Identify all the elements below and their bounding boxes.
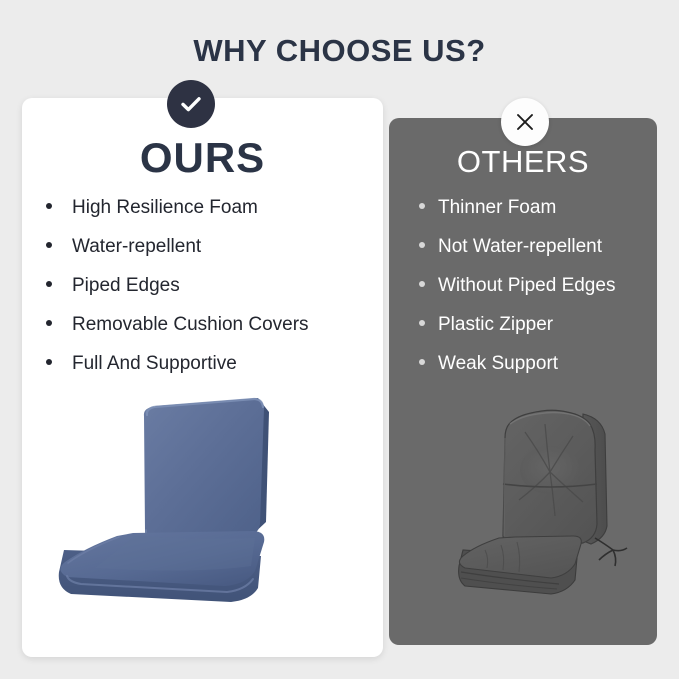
- close-icon: [514, 111, 536, 133]
- bullet-icon: [46, 203, 52, 209]
- list-item: Thinner Foam: [419, 196, 657, 235]
- others-feature-list: Thinner Foam Not Water-repellent Without…: [419, 196, 657, 391]
- list-item: High Resilience Foam: [46, 196, 376, 235]
- feature-label: Without Piped Edges: [438, 274, 615, 298]
- ours-feature-list: High Resilience Foam Water-repellent Pip…: [46, 196, 376, 391]
- list-item: Not Water-repellent: [419, 235, 657, 274]
- list-item: Full And Supportive: [46, 352, 376, 391]
- feature-label: Removable Cushion Covers: [72, 313, 309, 337]
- bullet-icon: [419, 281, 425, 287]
- blue-cushion-set-image: [55, 390, 310, 625]
- list-item: Piped Edges: [46, 274, 376, 313]
- gray-cushion-set-image: [455, 398, 640, 623]
- bullet-icon: [46, 242, 52, 248]
- feature-label: Weak Support: [438, 352, 558, 376]
- others-panel: OTHERS Thinner Foam Not Water-repellent …: [389, 118, 657, 645]
- others-heading: OTHERS: [389, 142, 657, 182]
- list-item: Without Piped Edges: [419, 274, 657, 313]
- feature-label: Water-repellent: [72, 235, 201, 259]
- feature-label: High Resilience Foam: [72, 196, 258, 220]
- feature-label: Plastic Zipper: [438, 313, 553, 337]
- bullet-icon: [46, 281, 52, 287]
- bullet-icon: [419, 203, 425, 209]
- feature-label: Not Water-repellent: [438, 235, 602, 259]
- feature-label: Thinner Foam: [438, 196, 556, 220]
- list-item: Weak Support: [419, 352, 657, 391]
- ours-check-badge: [167, 80, 215, 128]
- bullet-icon: [419, 320, 425, 326]
- check-icon: [178, 91, 204, 117]
- ours-heading: OURS: [22, 133, 383, 183]
- bullet-icon: [46, 320, 52, 326]
- feature-label: Piped Edges: [72, 274, 180, 298]
- bullet-icon: [419, 359, 425, 365]
- list-item: Plastic Zipper: [419, 313, 657, 352]
- others-close-badge: [501, 98, 549, 146]
- bullet-icon: [46, 359, 52, 365]
- feature-label: Full And Supportive: [72, 352, 237, 376]
- ours-panel: OURS High Resilience Foam Water-repellen…: [22, 98, 383, 657]
- page-title: WHY CHOOSE US?: [0, 31, 679, 71]
- list-item: Water-repellent: [46, 235, 376, 274]
- infographic-page: WHY CHOOSE US?: [0, 0, 679, 679]
- list-item: Removable Cushion Covers: [46, 313, 376, 352]
- bullet-icon: [419, 242, 425, 248]
